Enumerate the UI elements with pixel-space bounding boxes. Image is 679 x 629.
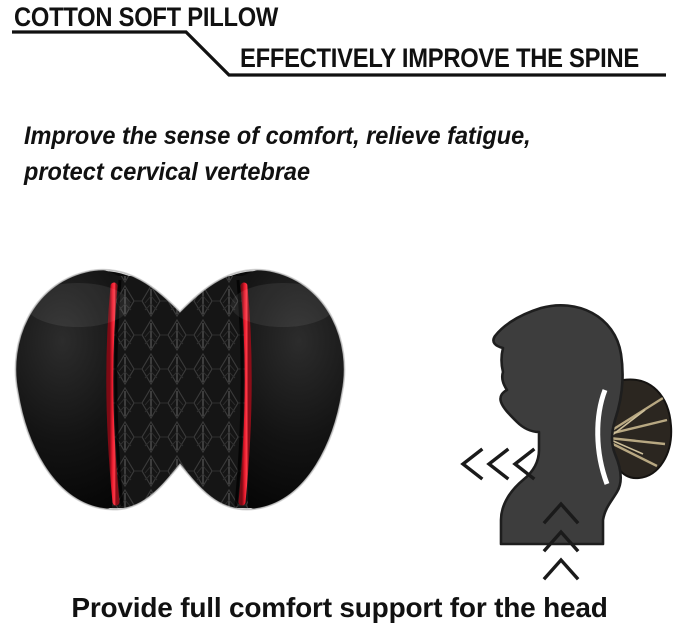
head-support-illustration: [445, 292, 679, 592]
subtitle-line-2: protect cervical vertebrae: [24, 154, 630, 190]
bottom-caption: Provide full comfort support for the hea…: [0, 592, 679, 624]
header-divider-rule: [0, 0, 679, 100]
left-arrows-chevrons: [463, 450, 533, 478]
product-infographic: COTTON SOFT PILLOW EFFECTIVELY IMPROVE T…: [0, 0, 679, 629]
subtitle-text: Improve the sense of comfort, relieve fa…: [24, 118, 630, 190]
pillow-illustration: [8, 250, 368, 540]
pillow-body: [8, 268, 359, 512]
subtitle-line-1: Improve the sense of comfort, relieve fa…: [24, 118, 630, 154]
product-image-pillow: [8, 250, 368, 540]
posture-diagram: [445, 292, 679, 592]
